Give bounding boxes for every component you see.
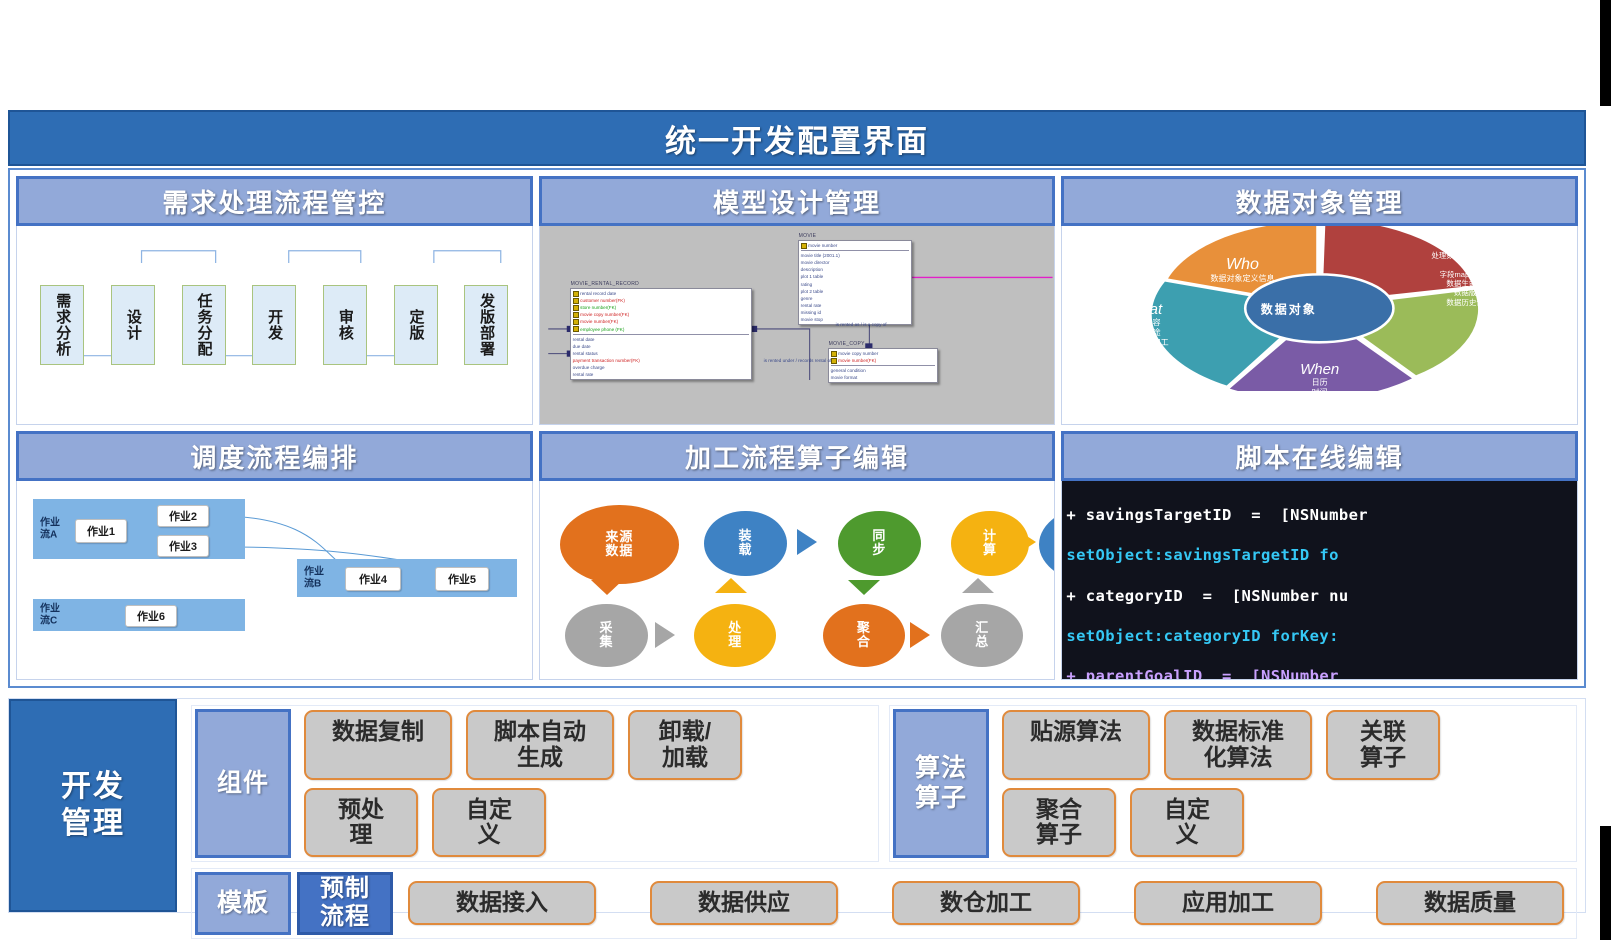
flow-step-box[interactable]: 需求分析 — [40, 285, 84, 365]
er-key-field: movie number(FK) — [831, 357, 935, 364]
er-key-field: movie copy number — [831, 350, 935, 357]
main-title-bar: 统一开发配置界面 — [8, 110, 1586, 166]
er-field: movie format — [831, 374, 935, 381]
dev-management-section: 开发 管理 组件 数据复制 脚本自动 生成 卸载/ 加载 预处 理 自定 义 — [8, 698, 1586, 913]
er-relation-label: is rented as / is a copy of — [836, 322, 887, 329]
algorithm-tag[interactable]: 自定 义 — [1130, 788, 1244, 858]
panel-header-requirement: 需求处理流程管控 — [16, 176, 533, 226]
component-tag-list: 数据复制 脚本自动 生成 卸载/ 加载 预处 理 自定 义 — [294, 706, 878, 861]
panel-script-edit[interactable]: 脚本在线编辑 + savingsTargetID = [NSNumber set… — [1061, 431, 1578, 680]
panel-body-model-design: MOVIE_RENTAL_RECORD rental record date c… — [539, 226, 1056, 425]
pie-annot-who: 数据对象定义信息 — [1170, 274, 1314, 284]
dev-row-components: 组件 数据复制 脚本自动 生成 卸载/ 加载 预处 理 自定 义 算法 算子 — [191, 705, 1577, 862]
er-field: genre — [801, 295, 909, 302]
panel-title-requirement: 需求处理流程管控 — [162, 183, 386, 220]
category-components[interactable]: 组件 — [195, 709, 291, 858]
arrow-right-orange — [910, 622, 930, 648]
er-table-name: MOVIE — [799, 233, 817, 241]
panel-body-requirement: 需求分析 设计 任务分配 开发 审核 定版 发版部署 — [16, 226, 533, 425]
er-field: due date — [573, 343, 749, 350]
operator-load[interactable]: 装 载 — [704, 511, 786, 576]
arrow-right-blue — [797, 529, 817, 555]
preset-flow-tag[interactable]: 数据接入 — [408, 881, 596, 925]
job-node[interactable]: 作业5 — [435, 567, 489, 591]
operator-process[interactable]: 处 理 — [694, 604, 776, 667]
er-key-field: store number(FK) — [573, 304, 749, 311]
er-field: plot 2 table — [801, 288, 909, 295]
panel-schedule[interactable]: 调度流程编排 作业 流A — [16, 431, 533, 680]
panel-body-data-object: 数据对象 Who 数据对象定义信息 What 数据内容 数据用途 数据对象加工 … — [1061, 226, 1578, 425]
panel-title-operator-edit: 加工流程算子编辑 — [685, 438, 909, 475]
operator-source-data[interactable]: 来源 数据 — [560, 505, 678, 584]
algorithm-tag-list: 贴源算法 数据标准 化算法 关联 算子 聚合 算子 自定 义 — [992, 706, 1576, 861]
operator-result-data[interactable]: 结果 数据 — [1039, 505, 1055, 584]
er-field: missing id — [801, 309, 909, 316]
page-title: 统一开发配置界面 — [665, 116, 929, 161]
job-node[interactable]: 作业1 — [75, 519, 127, 543]
panel-row-2: 调度流程编排 作业 流A — [16, 431, 1578, 680]
pie-annot-where: 存放物理层次 Mapping关系 — [1433, 326, 1567, 346]
dev-management-sidebar[interactable]: 开发 管理 — [9, 699, 177, 912]
er-relation-label: is rented under / records rental of — [764, 358, 832, 365]
panel-grid: 需求处理流程管控 需求分析 — [8, 168, 1586, 688]
pie-label-how: How — [1381, 234, 1556, 251]
operator-sync[interactable]: 同 步 — [838, 511, 920, 576]
flow-step-box[interactable]: 审核 — [323, 285, 367, 365]
requirement-step-list: 需求分析 设计 任务分配 开发 审核 定版 发版部署 — [17, 226, 532, 424]
panel-data-object[interactable]: 数据对象管理 — [1061, 176, 1578, 425]
er-key-field: movie number(FK) — [573, 318, 749, 325]
er-field: rating — [801, 281, 909, 288]
panel-row-1: 需求处理流程管控 需求分析 — [16, 176, 1578, 425]
pie-label-what: What — [1083, 301, 1207, 318]
pie-label-when: When — [1258, 361, 1382, 378]
er-diagram-canvas: MOVIE_RENTAL_RECORD rental record date c… — [540, 226, 1055, 424]
algorithm-tag[interactable]: 聚合 算子 — [1002, 788, 1116, 858]
panel-operator-edit[interactable]: 加工流程算子编辑 来源 数据 装 载 同 步 计 算 结果 数据 采 集 处 理… — [539, 431, 1056, 680]
category-algorithm-operators[interactable]: 算法 算子 — [893, 709, 989, 858]
er-table-movie-copy[interactable]: MOVIE_COPY movie copy number movie numbe… — [828, 348, 938, 383]
algorithm-tag[interactable]: 数据标准 化算法 — [1164, 710, 1312, 780]
code-line: + parentGoalID = [NSNumber — [1066, 666, 1577, 679]
er-field: description — [801, 266, 909, 273]
arrow-down-orange — [591, 580, 623, 595]
er-field: rental rate — [573, 371, 749, 378]
algorithm-tag[interactable]: 关联 算子 — [1326, 710, 1440, 780]
operator-canvas: 来源 数据 装 载 同 步 计 算 结果 数据 采 集 处 理 聚 合 汇 总 — [540, 481, 1055, 679]
preset-flow-tag[interactable]: 应用加工 — [1134, 881, 1322, 925]
operator-collect[interactable]: 采 集 — [565, 604, 647, 667]
pie-label-where: Where — [1433, 309, 1567, 326]
data-object-pie-chart: 数据对象 Who 数据对象定义信息 What 数据内容 数据用途 数据对象加工 … — [1062, 226, 1577, 424]
category-label: 算法 算子 — [915, 754, 967, 813]
code-line: + categoryID = [NSNumber nu — [1066, 586, 1577, 606]
component-tag[interactable]: 卸载/ 加载 — [628, 710, 742, 780]
preset-flow-tag[interactable]: 数据供应 — [650, 881, 838, 925]
dev-row-templates: 模板 预制 流程 数据接入 数据供应 数仓加工 应用加工 数据质量 — [191, 868, 1577, 939]
pie-annot-how: 处理数据过程及其方法 归类 字段mapping信息 数据生命周期 数据版本 数据… — [1381, 251, 1556, 307]
operator-summary[interactable]: 汇 总 — [941, 604, 1023, 667]
er-field: general condition — [831, 367, 935, 374]
component-tag[interactable]: 自定 义 — [432, 788, 546, 858]
panel-title-script-edit: 脚本在线编辑 — [1236, 438, 1404, 475]
code-line: setObject:categoryID forKey: — [1066, 626, 1577, 646]
er-field: plot 1 table — [801, 273, 909, 280]
unified-dev-config-diagram: 统一开发配置界面 需求处理流程管控 — [8, 110, 1593, 825]
er-field: movie director — [801, 259, 909, 266]
panel-header-schedule: 调度流程编排 — [16, 431, 533, 481]
panel-model-design[interactable]: 模型设计管理 — [539, 176, 1056, 425]
er-key-field: customer number(FK) — [573, 297, 749, 304]
panel-header-operator-edit: 加工流程算子编辑 — [539, 431, 1056, 481]
category-label: 组件 — [217, 769, 269, 799]
job-flow-a[interactable]: 作业 流A — [33, 499, 245, 559]
dev-management-label: 开发 管理 — [61, 769, 125, 842]
panel-header-model-design: 模型设计管理 — [539, 176, 1056, 226]
arrow-up-gray — [962, 578, 994, 593]
component-tag[interactable]: 脚本自动 生成 — [466, 710, 614, 780]
job-flow-label: 作业 流B — [304, 567, 324, 590]
panel-title-schedule: 调度流程编排 — [190, 438, 358, 475]
er-table-name: MOVIE_COPY — [829, 341, 865, 349]
er-key-field: movie copy number(FK) — [573, 311, 749, 318]
er-field: rental status — [573, 350, 749, 357]
dev-management-content: 组件 数据复制 脚本自动 生成 卸载/ 加载 预处 理 自定 义 算法 算子 — [177, 699, 1585, 912]
preset-flow-tag[interactable]: 数仓加工 — [892, 881, 1080, 925]
panel-body-schedule: 作业 流A 作业1 作业2 作业3 作业 流B 作业4 作业5 作业 流C — [16, 481, 533, 680]
category-preset-flow[interactable]: 预制 流程 — [297, 872, 393, 935]
flow-step-box[interactable]: 定版 — [394, 285, 438, 365]
er-table-movie-rental-record[interactable]: MOVIE_RENTAL_RECORD rental record date c… — [570, 288, 752, 380]
flow-step-box[interactable]: 开发 — [252, 285, 296, 365]
code-line: setObject:savingsTargetID fo — [1066, 545, 1577, 565]
arrow-up-yellow — [715, 578, 747, 593]
flow-step-box[interactable]: 任务分配 — [182, 285, 226, 365]
er-key-field: employee phone (FK) — [573, 326, 749, 333]
arrow-down-green — [848, 580, 880, 595]
right-edge-bar-top — [1600, 0, 1611, 106]
pie-annot-when: 日历 时间 控制条件 — [1258, 378, 1382, 408]
panel-body-operator-edit: 来源 数据 装 载 同 步 计 算 结果 数据 采 集 处 理 聚 合 汇 总 — [539, 481, 1056, 680]
schedule-canvas: 作业 流A 作业1 作业2 作业3 作业 流B 作业4 作业5 作业 流C — [17, 481, 532, 679]
job-flow-label: 作业 流C — [40, 604, 60, 627]
panel-header-data-object: 数据对象管理 — [1061, 176, 1578, 226]
panel-title-model-design: 模型设计管理 — [713, 183, 881, 220]
operator-aggregate[interactable]: 聚 合 — [823, 604, 905, 667]
panel-title-data-object: 数据对象管理 — [1236, 183, 1404, 220]
er-field: payment transaction number(FK) — [573, 357, 749, 364]
er-field: overdue charge — [573, 364, 749, 371]
er-table-movie[interactable]: MOVIE movie number movie title (2001.1) … — [798, 240, 912, 325]
er-field: rental date — [573, 336, 749, 343]
arrow-right-yellow — [1016, 529, 1036, 555]
code-editor-area[interactable]: + savingsTargetID = [NSNumber setObject:… — [1062, 481, 1577, 679]
job-node[interactable]: 作业4 — [345, 567, 401, 591]
er-field: rental rate — [801, 302, 909, 309]
category-label: 预制 流程 — [320, 875, 370, 932]
flow-step-box[interactable]: 发版部署 — [464, 285, 508, 365]
category-templates[interactable]: 模板 — [195, 872, 291, 935]
component-tag[interactable]: 数据复制 — [304, 710, 452, 780]
er-table-name: MOVIE_RENTAL_RECORD — [571, 281, 639, 289]
pie-center-label: 数据对象 — [1261, 301, 1317, 318]
algorithm-tag[interactable]: 贴源算法 — [1002, 710, 1150, 780]
category-label: 模板 — [217, 889, 269, 919]
job-flow-label: 作业 流A — [40, 518, 60, 541]
pie-label-who: Who — [1170, 256, 1314, 274]
panel-body-script-edit: + savingsTargetID = [NSNumber setObject:… — [1061, 481, 1578, 680]
er-key-field: rental record date — [573, 290, 749, 297]
flow-step-box[interactable]: 设计 — [111, 285, 155, 365]
job-node[interactable]: 作业2 — [157, 505, 209, 527]
right-edge-bar-bottom — [1600, 826, 1611, 940]
preset-flow-tag[interactable]: 数据质量 — [1376, 881, 1564, 925]
er-field: movie title (2001.1) — [801, 252, 909, 259]
job-node[interactable]: 作业6 — [125, 605, 177, 627]
job-node[interactable]: 作业3 — [157, 535, 209, 557]
code-line: + savingsTargetID = [NSNumber — [1066, 505, 1577, 525]
group-algorithm-operators: 算法 算子 贴源算法 数据标准 化算法 关联 算子 聚合 算子 自定 义 — [889, 705, 1577, 862]
preset-flow-tag-list: 数据接入 数据供应 数仓加工 应用加工 数据质量 — [396, 869, 1576, 938]
panel-header-script-edit: 脚本在线编辑 — [1061, 431, 1578, 481]
component-tag[interactable]: 预处 理 — [304, 788, 418, 858]
group-templates: 模板 预制 流程 数据接入 数据供应 数仓加工 应用加工 数据质量 — [191, 868, 1577, 939]
er-key-field: movie number — [801, 242, 909, 249]
pie-annot-what: 数据内容 数据用途 数据对象加工 加值流程 — [1083, 318, 1207, 358]
panel-requirement-flow[interactable]: 需求处理流程管控 需求分析 — [16, 176, 533, 425]
arrow-right-gray — [655, 622, 675, 648]
group-components: 组件 数据复制 脚本自动 生成 卸载/ 加载 预处 理 自定 义 — [191, 705, 879, 862]
